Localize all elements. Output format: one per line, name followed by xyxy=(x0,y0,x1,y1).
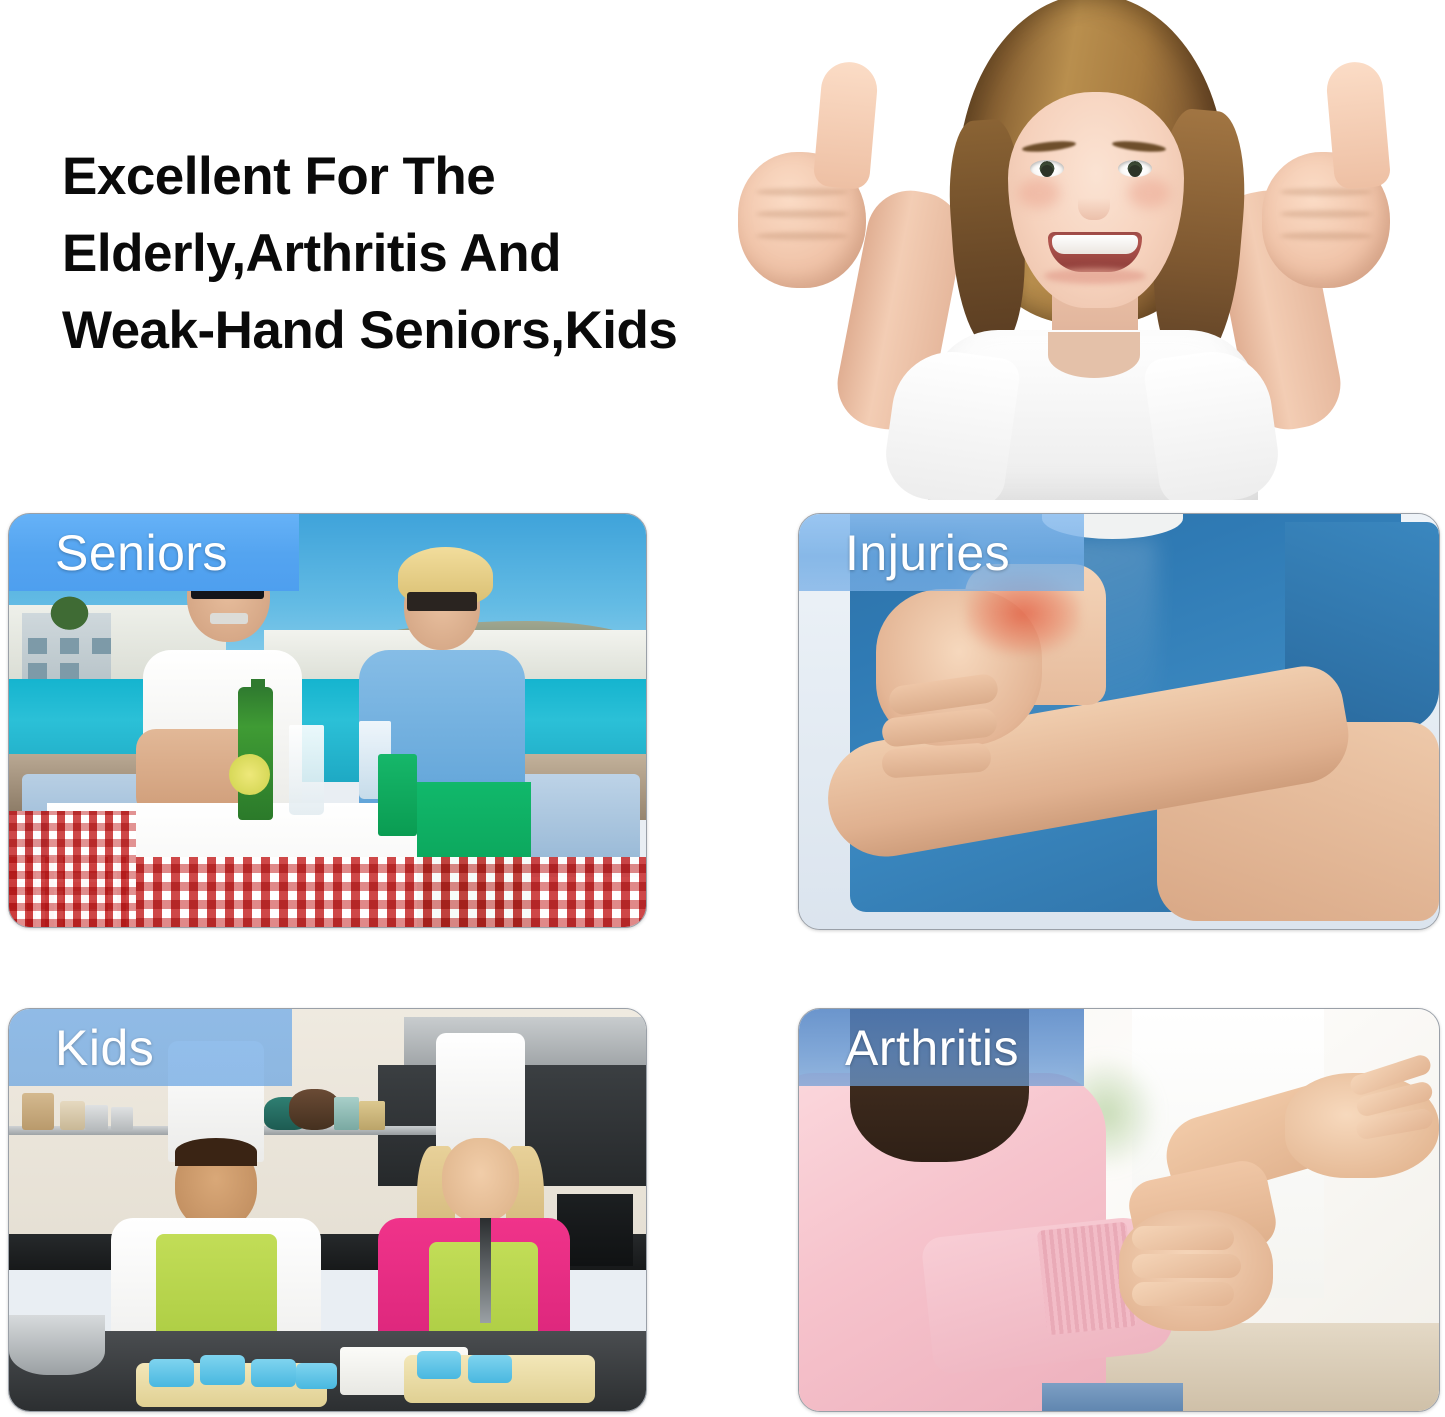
man-moustache xyxy=(210,613,248,624)
palm-tree xyxy=(41,588,98,629)
finger xyxy=(1132,1226,1234,1250)
green-can xyxy=(378,754,416,837)
mixing-bowl xyxy=(9,1315,105,1375)
blue-cookie-cutter xyxy=(251,1359,296,1387)
thumb-left xyxy=(813,60,880,190)
pupil-left xyxy=(1041,165,1053,177)
knuckle-line xyxy=(1280,232,1372,240)
cup xyxy=(111,1107,133,1129)
blue-cookie-cutter xyxy=(468,1355,513,1383)
cup xyxy=(85,1105,108,1129)
spice-jar xyxy=(359,1101,384,1129)
drinking-glass xyxy=(289,725,324,816)
blue-cookie-cutter xyxy=(296,1363,337,1389)
knife xyxy=(480,1218,490,1323)
boy-hair xyxy=(175,1138,258,1166)
brown-teapot xyxy=(289,1089,340,1129)
finger xyxy=(1132,1254,1241,1278)
pupil-right xyxy=(1129,165,1141,177)
feature-panel-arthritis[interactable]: Arthritis xyxy=(798,1008,1440,1412)
product-feature-infographic: Excellent For The Elderly,Arthritis And … xyxy=(0,0,1445,1417)
woman-sunglasses xyxy=(407,592,477,611)
green-beer-bottle xyxy=(238,687,273,819)
knuckle-line xyxy=(1280,188,1372,196)
cheek-left xyxy=(1018,178,1060,208)
knuckle-line xyxy=(1280,210,1372,218)
panel-badge-kids: Kids xyxy=(9,1009,292,1086)
window xyxy=(92,638,111,655)
feature-panel-seniors[interactable]: Seniors xyxy=(8,513,647,928)
page-headline: Excellent For The Elderly,Arthritis And … xyxy=(62,138,822,369)
thumb-right xyxy=(1325,60,1392,190)
panel-badge-arthritis: Arthritis xyxy=(799,1009,1084,1086)
jar xyxy=(22,1093,54,1129)
shirt-collar xyxy=(1048,332,1140,378)
blue-cookie-cutter xyxy=(200,1355,245,1385)
teeth xyxy=(1052,235,1138,254)
feature-panel-kids[interactable]: Kids xyxy=(8,1008,647,1412)
girl-head xyxy=(442,1138,518,1222)
panel-badge-injuries: Injuries xyxy=(799,514,1084,591)
girl-chef-hat xyxy=(436,1033,525,1154)
cheek-right xyxy=(1128,178,1170,208)
window xyxy=(60,638,79,655)
nose xyxy=(1078,186,1110,220)
window xyxy=(28,663,47,680)
jeans xyxy=(1042,1383,1183,1411)
finger xyxy=(1132,1282,1234,1306)
feature-panel-injuries[interactable]: Injuries xyxy=(798,513,1440,930)
lemon-slice xyxy=(229,754,270,795)
window xyxy=(28,638,47,655)
red-gingham-tablecloth-side xyxy=(9,811,136,927)
jar xyxy=(60,1101,85,1129)
blue-cookie-cutter xyxy=(417,1351,462,1379)
spice-jar xyxy=(334,1097,359,1129)
panel-badge-seniors: Seniors xyxy=(9,514,299,591)
window xyxy=(60,663,79,680)
blue-cookie-cutter xyxy=(149,1359,194,1387)
lower-lip xyxy=(1044,268,1146,284)
